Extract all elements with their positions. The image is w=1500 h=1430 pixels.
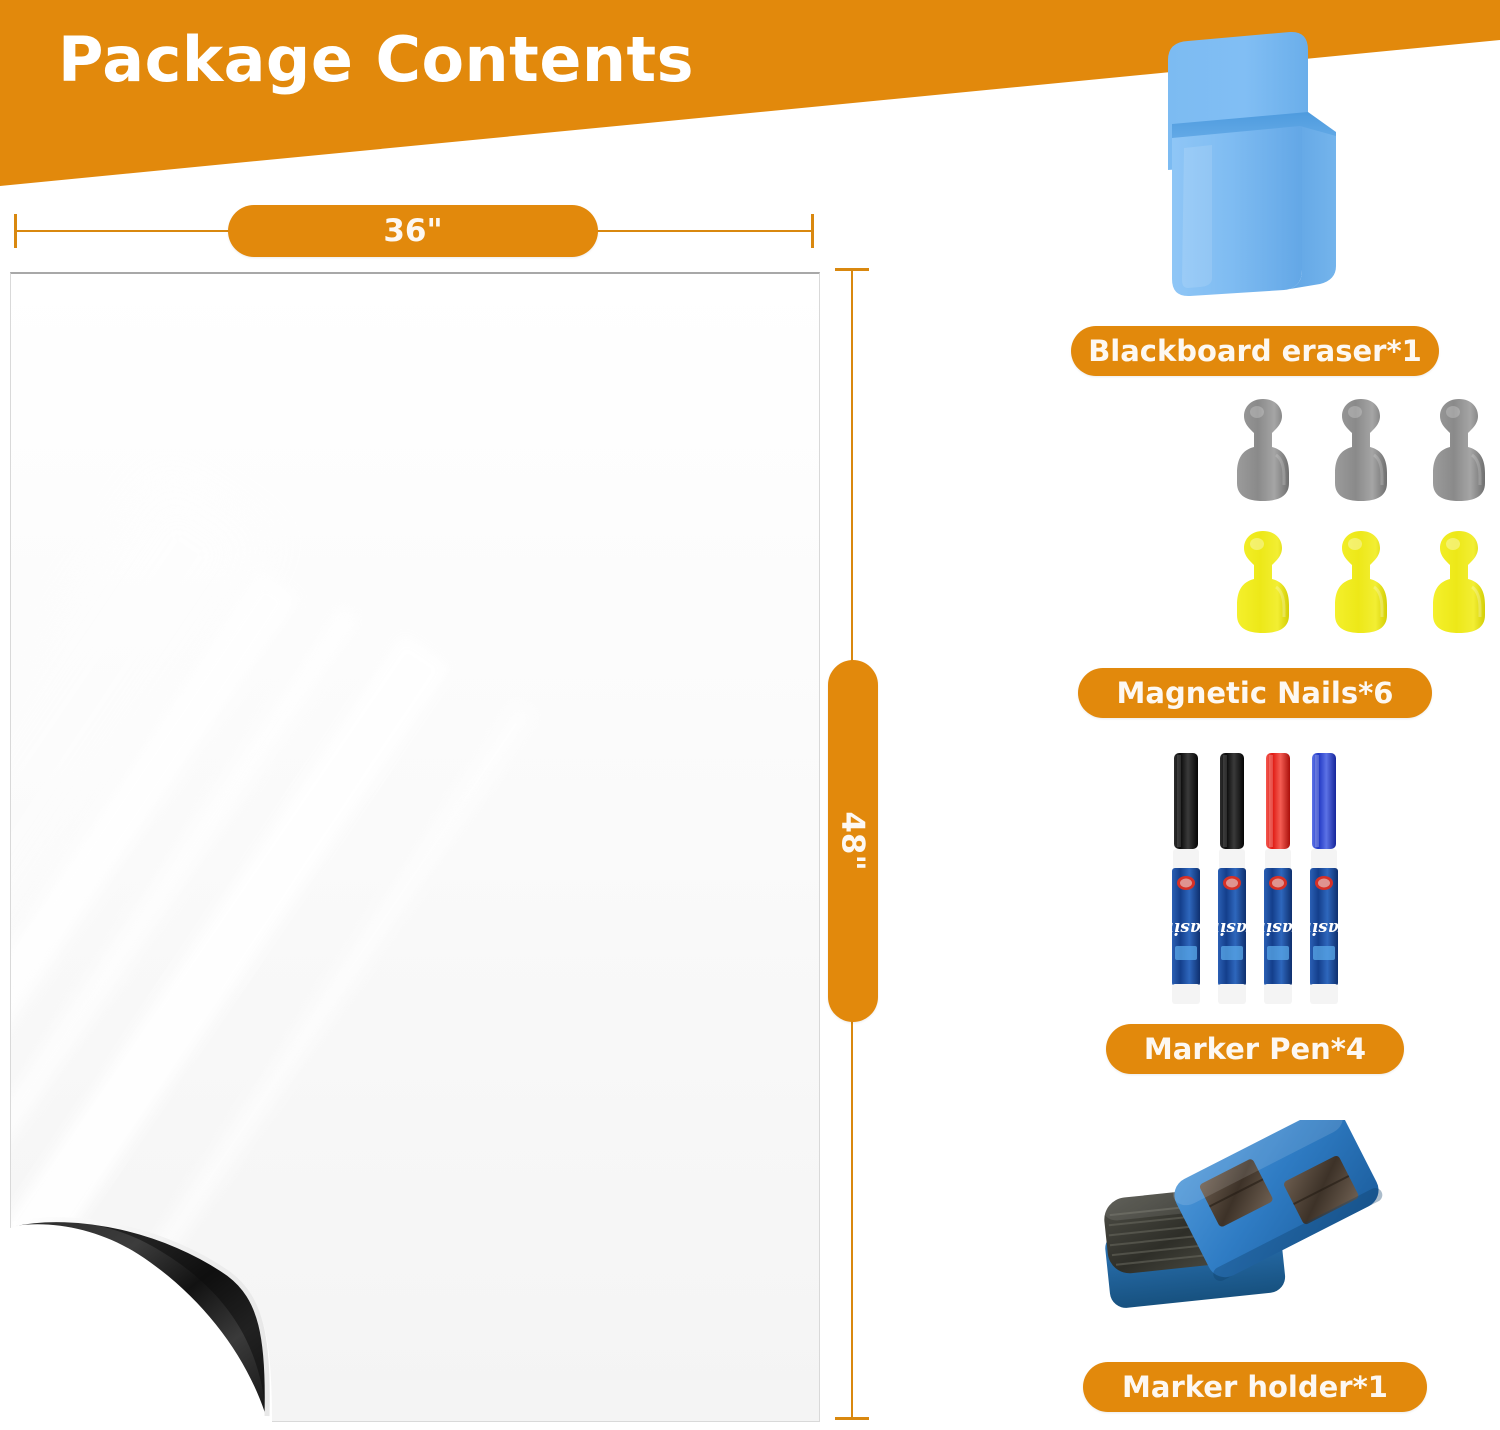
- package-contents-list: Blackboard eraser*1: [1020, 0, 1490, 1430]
- gray-magnet-nail-icon: [1428, 395, 1490, 505]
- yellow-magnet-nail-icon: [1232, 527, 1294, 637]
- svg-text:Erasing: Erasing: [1169, 918, 1203, 938]
- svg-text:Erasing: Erasing: [1307, 918, 1341, 938]
- dimension-cap-right: [811, 214, 814, 248]
- list-item: Blackboard eraser*1: [1020, 20, 1490, 376]
- marker-pen-row: Erasing Erasing: [1169, 750, 1341, 1008]
- list-item: Magnetic Nails*6: [1020, 395, 1490, 718]
- gray-magnet-nail-icon: [1232, 395, 1294, 505]
- item-label: Marker holder*1: [1083, 1362, 1427, 1412]
- dimension-cap-top: [835, 268, 869, 271]
- gray-magnet-nail-icon: [1330, 395, 1392, 505]
- item-label: Marker Pen*4: [1106, 1024, 1404, 1074]
- red-marker-icon: Erasing: [1261, 750, 1295, 1008]
- pen-cup-icon: [1150, 20, 1360, 310]
- dimension-cap-left: [14, 214, 17, 248]
- svg-text:Erasing: Erasing: [1261, 918, 1295, 938]
- blue-pen-cup-art: [1020, 20, 1490, 310]
- yellow-magnet-nail-icon: [1428, 527, 1490, 637]
- gray-nail-row: [1232, 395, 1490, 505]
- black-marker-icon: Erasing: [1169, 750, 1203, 1008]
- height-label: 48": [828, 660, 878, 1022]
- list-item: Erasing Erasing: [1020, 748, 1490, 1074]
- yellow-magnet-nail-icon: [1330, 527, 1392, 637]
- height-label-text: 48": [835, 811, 871, 870]
- width-label: 36": [228, 205, 598, 257]
- item-label: Blackboard eraser*1: [1071, 326, 1439, 376]
- dimension-cap-bottom: [835, 1417, 869, 1420]
- page-title: Package Contents: [58, 24, 694, 95]
- magnetic-eraser-icon: [1090, 1120, 1420, 1342]
- item-label: Magnetic Nails*6: [1078, 668, 1432, 718]
- magnetic-nails-art: [1020, 395, 1490, 650]
- black-marker-icon: Erasing: [1215, 750, 1249, 1008]
- yellow-nail-row: [1232, 527, 1490, 637]
- marker-pens-art: Erasing Erasing: [1020, 748, 1490, 1008]
- list-item: Marker holder*1: [1020, 1120, 1490, 1412]
- whiteboard-surface: [10, 272, 820, 1422]
- blue-erasers-art: [1020, 1120, 1490, 1342]
- blue-marker-icon: Erasing: [1307, 750, 1341, 1008]
- whiteboard-product-image: [10, 272, 820, 1422]
- svg-text:Erasing: Erasing: [1215, 918, 1249, 938]
